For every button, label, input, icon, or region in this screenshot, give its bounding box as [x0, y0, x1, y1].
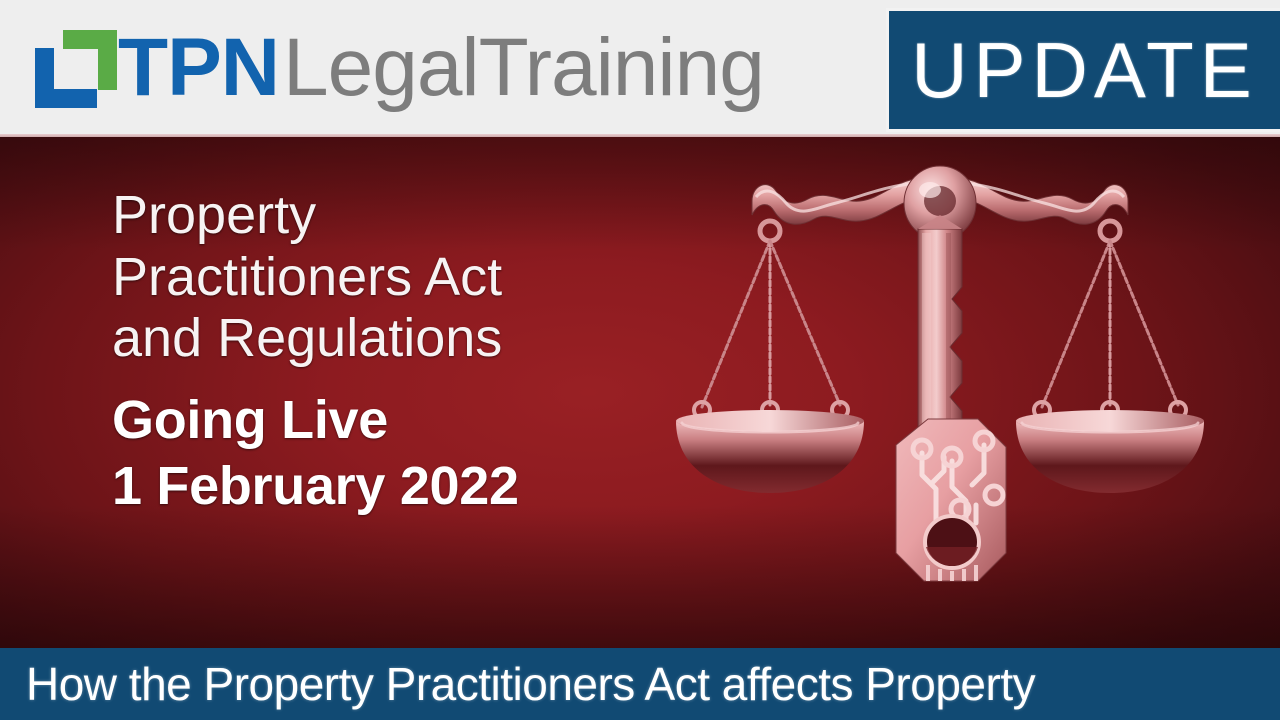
brand-name: TPN — [118, 27, 279, 109]
brand-name-suffix: LegalTraining — [283, 27, 764, 109]
headline-spacer — [112, 370, 632, 388]
scales-of-justice-key-icon — [660, 157, 1220, 627]
video-slide: TPN LegalTraining UPDATE Property Practi… — [0, 0, 1280, 720]
key-bow-circuit — [896, 419, 1006, 581]
scales-left-pan — [676, 221, 864, 493]
caption-text: How the Property Practitioners Act affec… — [0, 657, 1035, 711]
caption-bar: How the Property Practitioners Act affec… — [0, 648, 1280, 720]
logo-blue-horizontal-bar — [35, 89, 97, 108]
emphasis-line-1: Going Live — [112, 388, 632, 454]
emphasis-line-2: 1 February 2022 — [112, 454, 632, 520]
slide-header: TPN LegalTraining UPDATE — [0, 0, 1280, 137]
update-badge: UPDATE — [886, 8, 1280, 132]
slide-stage: Property Practitioners Act and Regulatio… — [0, 137, 1280, 648]
tpn-bracket-logo-icon — [35, 30, 113, 108]
headline-line-1: Property — [112, 185, 632, 247]
brand-wordmark: TPN LegalTraining — [118, 18, 764, 118]
headline-block: Property Practitioners Act and Regulatio… — [112, 185, 632, 519]
headline-line-2: Practitioners Act — [112, 247, 632, 309]
headline-line-3: and Regulations — [112, 308, 632, 370]
update-badge-label: UPDATE — [911, 31, 1258, 109]
logo-green-vertical-bar — [98, 30, 117, 90]
scales-right-pan — [1016, 221, 1204, 493]
